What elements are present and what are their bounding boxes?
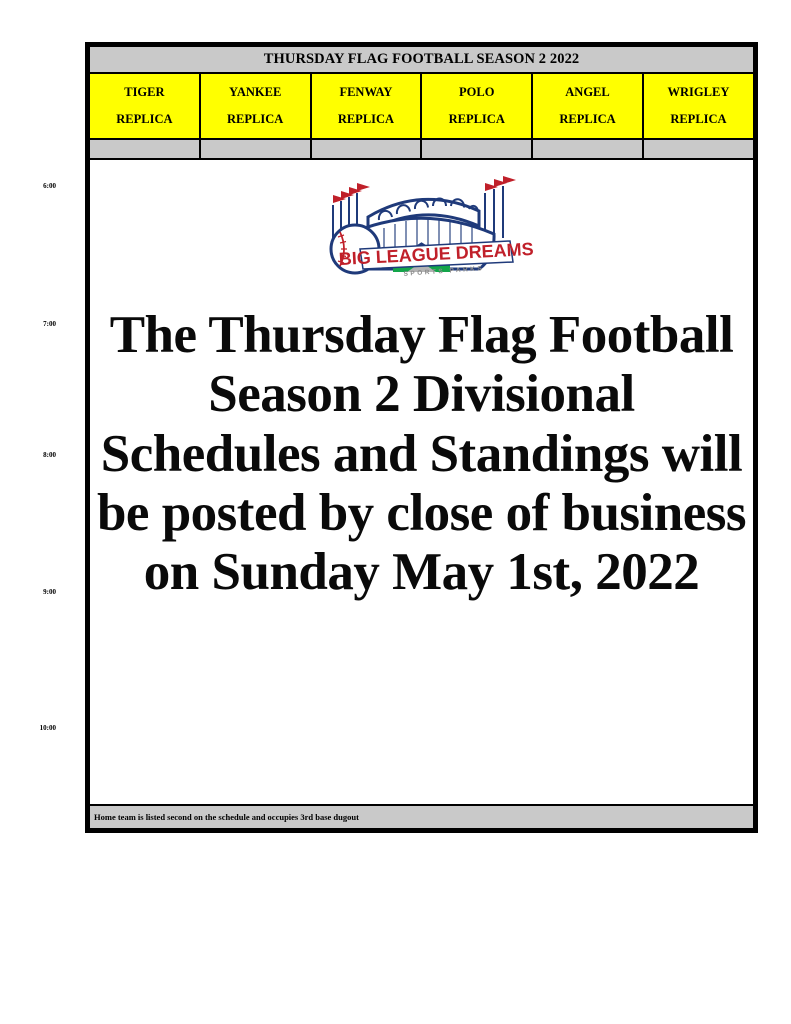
time-label-10: 10:00 (40, 724, 56, 732)
field-header-polo[interactable]: POLO REPLICA (421, 73, 532, 139)
schedule-grid: THURSDAY FLAG FOOTBALL SEASON 2 2022 TIG… (88, 45, 755, 830)
time-label-9: 9:00 (43, 588, 56, 596)
time-label-8: 8:00 (43, 451, 56, 459)
field-name-angel: ANGEL (533, 86, 642, 99)
notice-block: BIG LEAGUE DREAMS SPORTS PARKS The Thurs… (90, 160, 753, 804)
field-header-wrigley[interactable]: WRIGLEY REPLICA (643, 73, 754, 139)
field-header-row: TIGER REPLICA YANKEE REPLICA FENWAY REPL… (89, 73, 754, 139)
spacer-row (89, 139, 754, 159)
footer-note: Home team is listed second on the schedu… (89, 805, 754, 829)
schedule-table: THURSDAY FLAG FOOTBALL SEASON 2 2022 TIG… (85, 42, 758, 833)
field-replica-fenway: REPLICA (312, 113, 421, 126)
field-name-yankee: YANKEE (201, 86, 310, 99)
field-name-fenway: FENWAY (312, 86, 421, 99)
spacer-cell-2 (200, 139, 311, 159)
field-header-fenway[interactable]: FENWAY REPLICA (311, 73, 422, 139)
field-replica-polo: REPLICA (422, 113, 531, 126)
notice-message: The Thursday Flag Football Season 2 Divi… (92, 306, 752, 603)
field-name-polo: POLO (422, 86, 531, 99)
field-replica-angel: REPLICA (533, 113, 642, 126)
spacer-cell-5 (532, 139, 643, 159)
page-title: THURSDAY FLAG FOOTBALL SEASON 2 2022 (89, 46, 754, 73)
spacer-cell-6 (643, 139, 754, 159)
field-name-tiger: TIGER (90, 86, 199, 99)
time-label-7: 7:00 (43, 320, 56, 328)
schedule-body-row: BIG LEAGUE DREAMS SPORTS PARKS The Thurs… (89, 159, 754, 805)
field-header-yankee[interactable]: YANKEE REPLICA (200, 73, 311, 139)
table-title-row: THURSDAY FLAG FOOTBALL SEASON 2 2022 (89, 46, 754, 73)
field-header-angel[interactable]: ANGEL REPLICA (532, 73, 643, 139)
field-name-wrigley: WRIGLEY (644, 86, 753, 99)
field-replica-wrigley: REPLICA (644, 113, 753, 126)
spacer-cell-1 (89, 139, 200, 159)
time-label-6: 6:00 (43, 182, 56, 190)
schedule-body: BIG LEAGUE DREAMS SPORTS PARKS The Thurs… (89, 159, 754, 805)
big-league-dreams-logo: BIG LEAGUE DREAMS SPORTS PARKS (309, 174, 534, 284)
schedule-page: 6:00 7:00 8:00 9:00 10:00 THURSDAY FLAG … (0, 0, 791, 1024)
spacer-cell-3 (311, 139, 422, 159)
time-gutter: 6:00 7:00 8:00 9:00 10:00 (0, 160, 84, 832)
field-replica-tiger: REPLICA (90, 113, 199, 126)
field-replica-yankee: REPLICA (201, 113, 310, 126)
footer-row: Home team is listed second on the schedu… (89, 805, 754, 829)
field-header-tiger[interactable]: TIGER REPLICA (89, 73, 200, 139)
spacer-cell-4 (421, 139, 532, 159)
